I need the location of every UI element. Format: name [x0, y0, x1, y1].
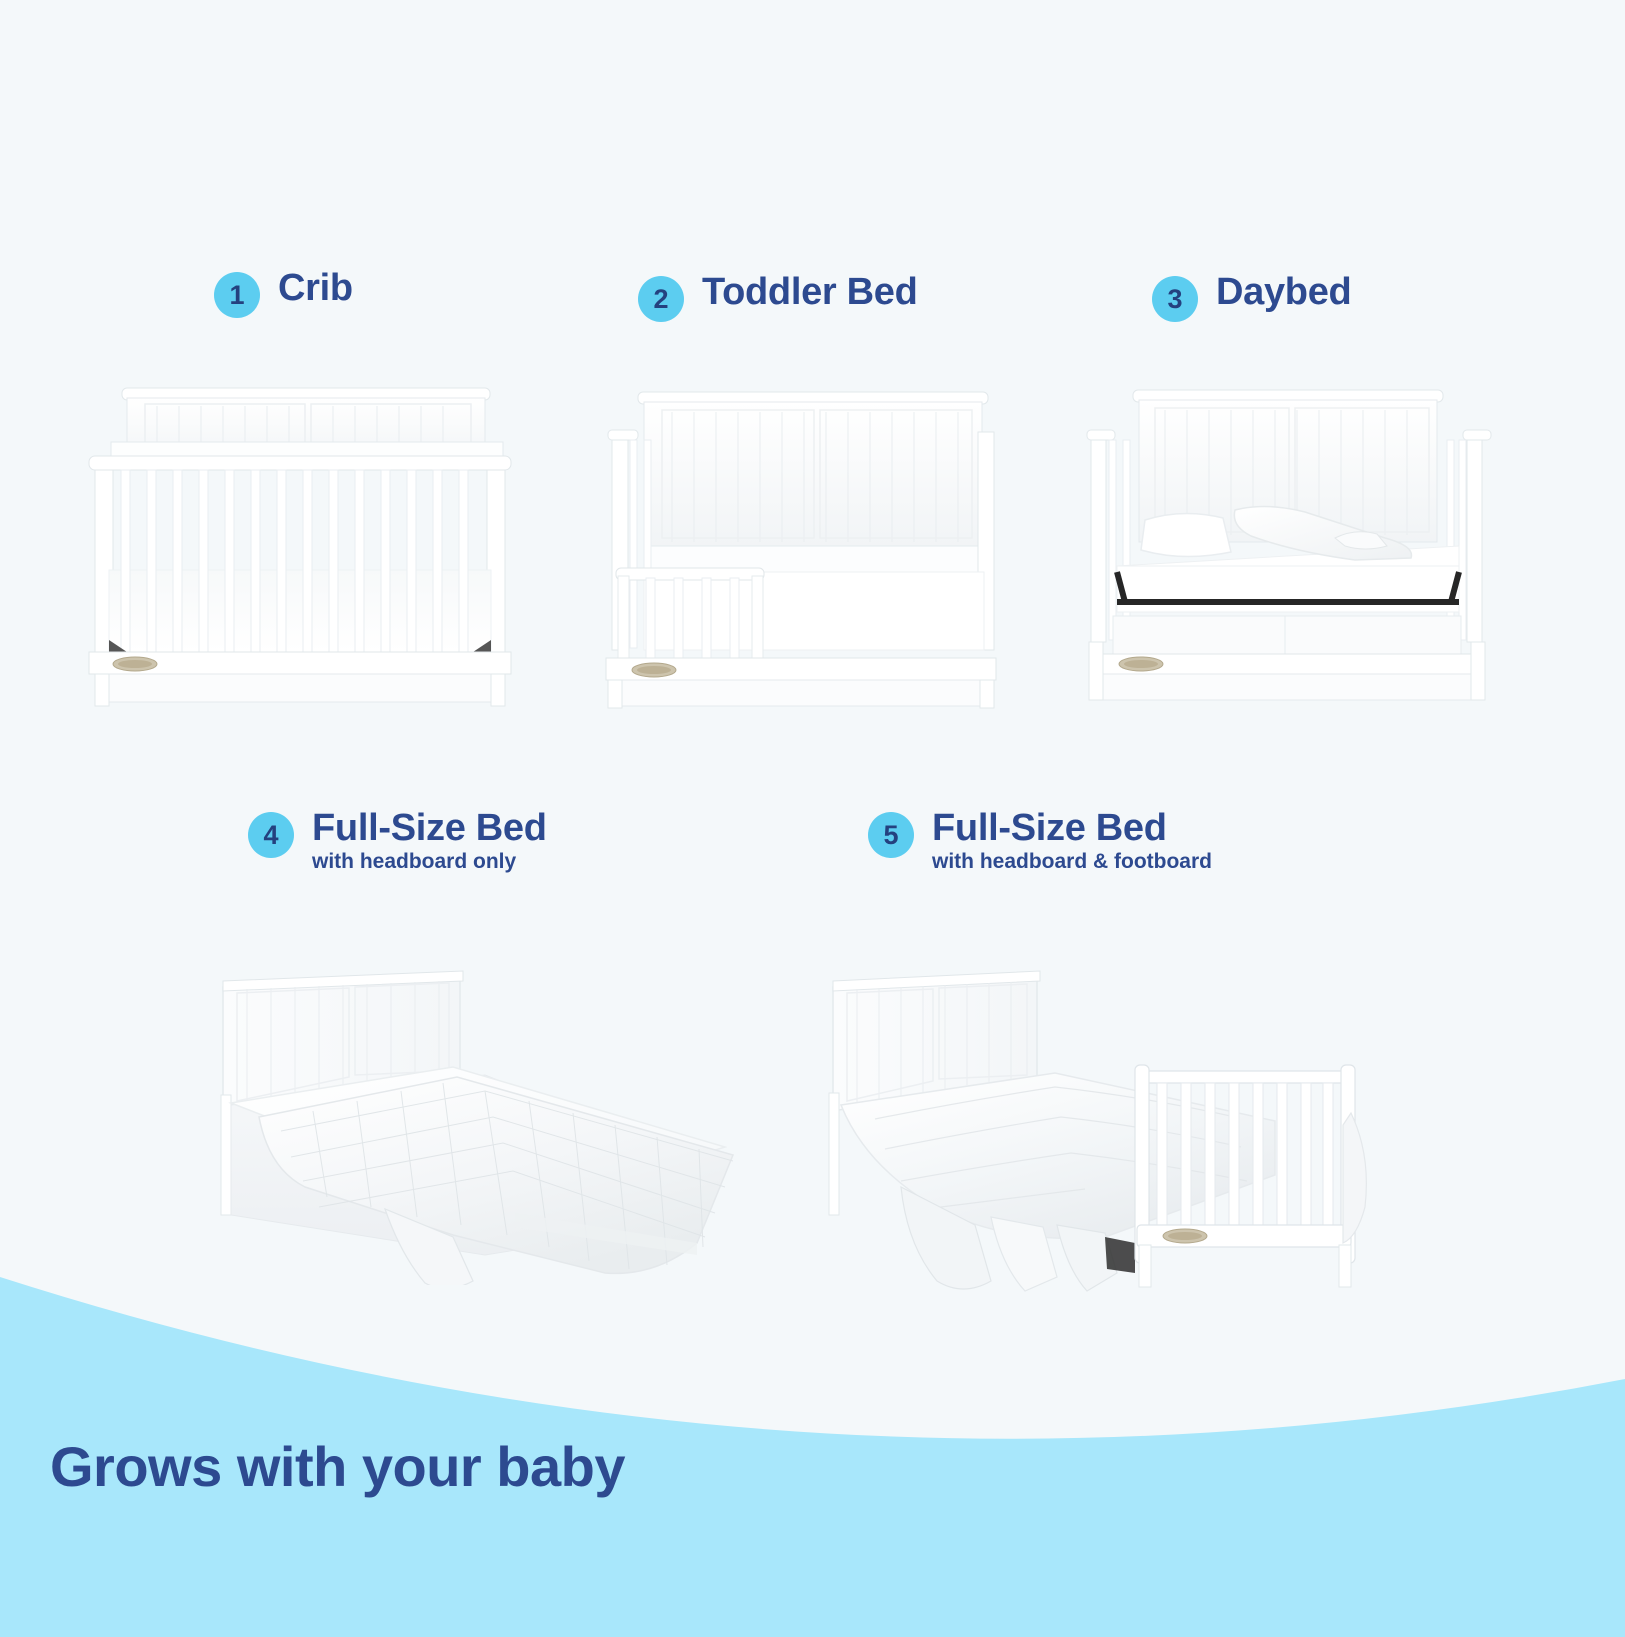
product-figure-full-size-bed-headboard-footboard [805, 925, 1385, 1295]
product-figure-toddler-bed [592, 370, 1002, 710]
headline-grows-with-your-baby: Grows with your baby [50, 1434, 625, 1499]
step-badge-5: 5 [868, 812, 914, 858]
step-title-1: Crib [278, 268, 353, 309]
step-badge-4: 4 [248, 812, 294, 858]
product-figure-crib [75, 370, 525, 710]
step-title-5: Full-Size Bed [932, 808, 1212, 849]
product-figure-full-size-bed-headboard [185, 925, 745, 1285]
step-subtitle-4: with headboard only [312, 850, 547, 874]
step-subtitle-5: with headboard & footboard [932, 850, 1212, 874]
step-title-3: Daybed [1216, 272, 1351, 313]
step-label-2: 2 Toddler Bed [638, 272, 918, 322]
step-title-2: Toddler Bed [702, 272, 918, 313]
step-label-1: 1 Crib [214, 268, 353, 318]
step-label-4: 4 Full-Size Bed with headboard only [248, 808, 547, 874]
infographic-canvas: Grows with your baby [0, 0, 1625, 1637]
step-label-5: 5 Full-Size Bed with headboard & footboa… [868, 808, 1212, 874]
step-title-4: Full-Size Bed [312, 808, 547, 849]
step-text-group-5: Full-Size Bed with headboard & footboard [932, 808, 1212, 874]
step-badge-2: 2 [638, 276, 684, 322]
step-text-group-4: Full-Size Bed with headboard only [312, 808, 547, 874]
step-text-group-3: Daybed [1216, 272, 1351, 313]
product-figure-daybed [1055, 370, 1515, 710]
step-badge-3: 3 [1152, 276, 1198, 322]
step-text-group-2: Toddler Bed [702, 272, 918, 313]
step-text-group-1: Crib [278, 268, 353, 309]
step-badge-1: 1 [214, 272, 260, 318]
step-label-3: 3 Daybed [1152, 272, 1351, 322]
